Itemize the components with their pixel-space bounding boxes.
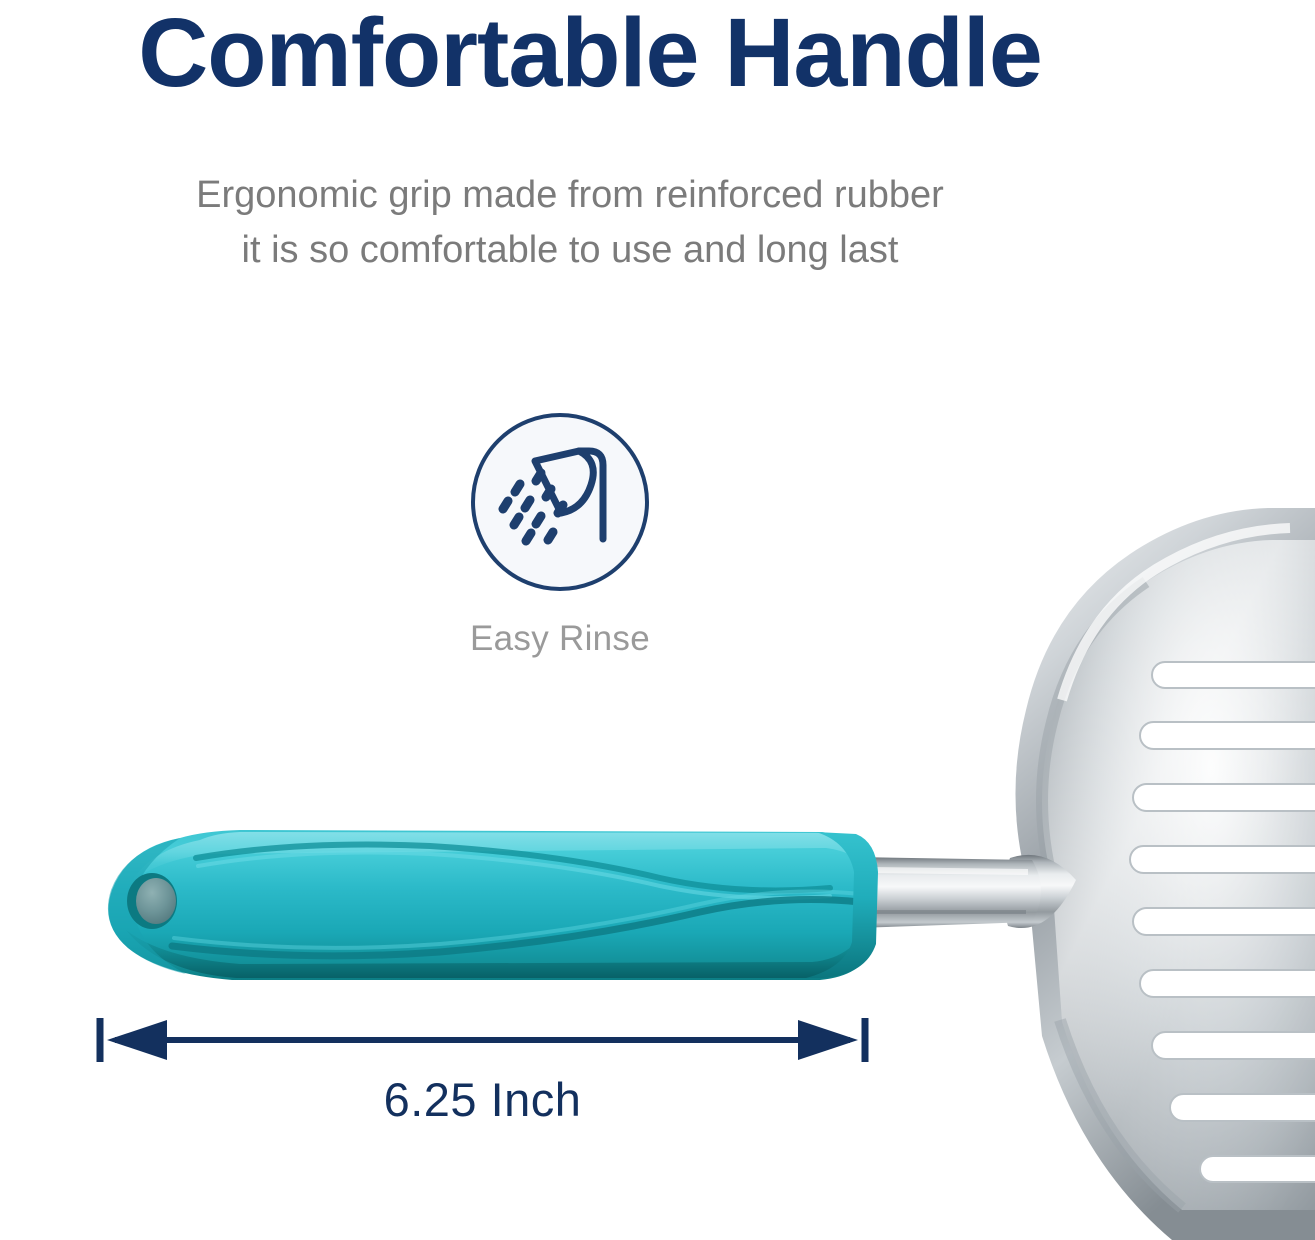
scoop-slots xyxy=(1130,662,1315,1182)
handle-body xyxy=(108,830,876,980)
feature-badge: Easy Rinse xyxy=(385,413,735,659)
product-feature-image: Comfortable Handle Ergonomic grip made f… xyxy=(0,0,1315,1240)
scoop-slot xyxy=(1170,1094,1315,1121)
scoop-pan xyxy=(1042,540,1315,1210)
scoop-neck xyxy=(1002,855,1076,928)
rubber-grip-handle xyxy=(108,830,878,980)
scoop-slot xyxy=(1133,784,1315,811)
handle-collar xyxy=(806,832,878,978)
scoop-inner-edge-shadow xyxy=(1042,582,1146,880)
handle-groove-lower-highlight xyxy=(174,892,860,948)
handle-top-sheen xyxy=(130,832,866,884)
handle-lower-shade xyxy=(126,916,872,978)
scoop-sheen xyxy=(1042,540,1315,1210)
dimension-arrowhead-right xyxy=(798,1020,858,1060)
scoop-head xyxy=(1015,508,1315,1240)
subtitle: Ergonomic grip made from reinforced rubb… xyxy=(0,168,1140,278)
handle-butt-rim xyxy=(108,838,186,974)
shower-rinse-icon xyxy=(475,417,645,587)
scoop-slot xyxy=(1200,1156,1315,1182)
scoop-slot xyxy=(1152,1032,1315,1059)
hang-hole-outer xyxy=(127,873,177,929)
scoop-slot xyxy=(1140,970,1315,997)
badge-circle xyxy=(471,413,649,591)
stainless-shaft xyxy=(855,857,1041,928)
water-droplets xyxy=(503,473,563,541)
dimension-label: 6.25 Inch xyxy=(95,1072,870,1127)
handle-groove-lower xyxy=(172,900,860,956)
hang-hole xyxy=(136,878,176,924)
dimension-arrowhead-left xyxy=(107,1020,167,1060)
shaft-body xyxy=(855,857,1041,928)
scoop-inner-edge-shadow-lower xyxy=(1060,1020,1182,1208)
scoop-rim-highlight xyxy=(1062,528,1290,700)
scoop-slot xyxy=(1152,662,1315,688)
badge-label: Easy Rinse xyxy=(385,619,735,659)
dimension-arrow xyxy=(95,1012,870,1072)
subtitle-line-2: it is so comfortable to use and long las… xyxy=(0,223,1140,278)
subtitle-line-1: Ergonomic grip made from reinforced rubb… xyxy=(0,168,1140,223)
scoop-slot xyxy=(1133,908,1315,935)
handle-groove-upper xyxy=(196,845,830,891)
scoop-rim xyxy=(1015,508,1315,1240)
scoop-slot xyxy=(1130,846,1315,873)
handle-groove-upper-highlight xyxy=(198,853,830,899)
page-title: Comfortable Handle xyxy=(0,4,1180,103)
scoop-slot xyxy=(1140,722,1315,749)
shaft-highlight xyxy=(866,870,1028,872)
neck-weld xyxy=(1002,855,1076,928)
